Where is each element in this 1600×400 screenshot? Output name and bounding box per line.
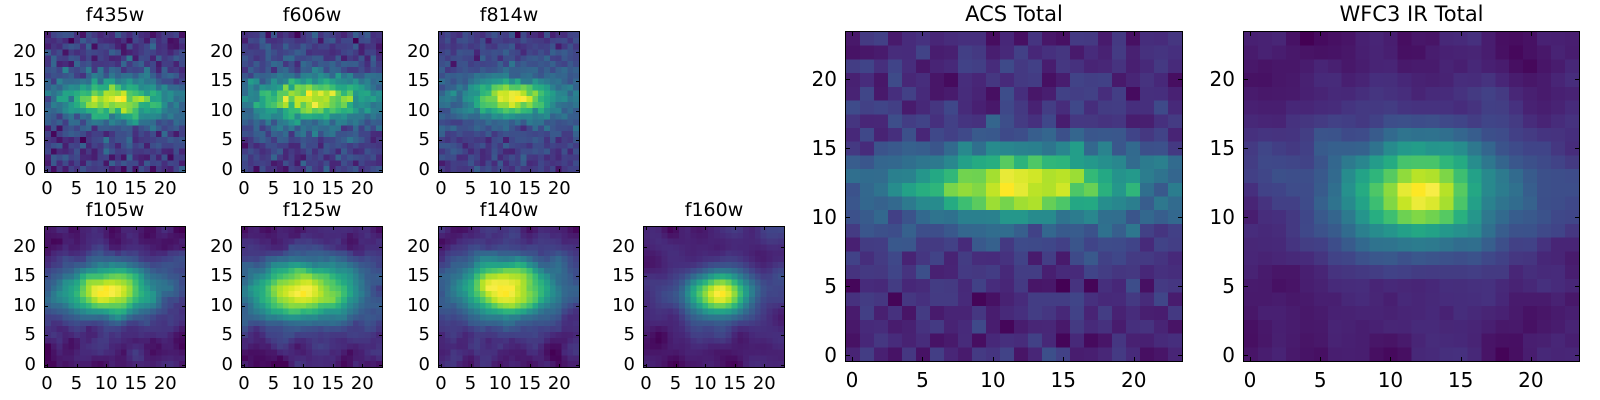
x-tick: [1320, 31, 1321, 36]
y-tick-label: 15: [1169, 138, 1235, 158]
y-tick: [44, 276, 48, 277]
panel-title-f814w: f814w: [438, 6, 580, 25]
y-tick-label: 20: [372, 43, 430, 61]
x-tick-label: 20: [529, 180, 589, 198]
x-tick: [705, 226, 706, 230]
x-tick: [530, 169, 531, 173]
x-tick: [705, 364, 706, 368]
x-tick: [244, 31, 245, 35]
x-tick: [500, 169, 501, 173]
y-tick: [241, 335, 245, 336]
y-tick-label: 10: [372, 102, 430, 120]
x-tick-label: 15: [1033, 370, 1093, 390]
y-tick-label: 0: [175, 356, 233, 374]
y-tick: [845, 286, 850, 287]
x-tick-label: 20: [332, 180, 392, 198]
x-tick: [676, 364, 677, 368]
x-tick: [922, 357, 923, 362]
x-tick-label: 20: [135, 180, 195, 198]
y-tick: [438, 81, 442, 82]
heatmap-image-f606w: [241, 31, 383, 173]
x-tick: [764, 226, 765, 230]
y-tick-label: 15: [0, 72, 36, 90]
y-tick-label: 0: [372, 356, 430, 374]
y-tick-label: 20: [0, 238, 36, 256]
y-tick-label: 20: [372, 238, 430, 256]
x-tick: [244, 226, 245, 230]
x-tick-label: 0: [822, 370, 882, 390]
y-tick-label: 5: [771, 276, 837, 296]
y-tick-label: 0: [175, 161, 233, 179]
y-tick: [781, 306, 785, 307]
y-tick: [845, 355, 850, 356]
y-tick: [438, 52, 442, 53]
heatmap-image-wfc3-ir-total: [1243, 31, 1580, 362]
y-tick-label: 0: [0, 356, 36, 374]
y-tick: [241, 81, 245, 82]
x-tick: [922, 31, 923, 36]
y-tick: [44, 335, 48, 336]
y-tick: [845, 79, 850, 80]
x-tick-label: 20: [1501, 370, 1561, 390]
y-tick-label: 10: [0, 102, 36, 120]
panel-f435w: f435w0510152005101520: [44, 31, 186, 173]
y-tick: [576, 52, 580, 53]
y-tick: [576, 81, 580, 82]
y-tick-label: 15: [175, 267, 233, 285]
x-tick: [274, 169, 275, 173]
x-tick: [77, 169, 78, 173]
y-tick-label: 5: [577, 326, 635, 344]
x-tick: [559, 169, 560, 173]
y-tick: [241, 170, 245, 171]
y-tick: [1575, 148, 1580, 149]
x-tick: [77, 226, 78, 230]
y-tick: [438, 365, 442, 366]
y-tick-label: 5: [1169, 276, 1235, 296]
x-tick: [471, 31, 472, 35]
x-tick: [362, 31, 363, 35]
y-tick-label: 0: [372, 161, 430, 179]
y-tick-label: 15: [0, 267, 36, 285]
x-tick: [165, 364, 166, 368]
y-tick-label: 15: [771, 138, 837, 158]
y-tick-label: 10: [175, 102, 233, 120]
x-tick: [136, 169, 137, 173]
x-tick: [303, 364, 304, 368]
x-tick: [333, 31, 334, 35]
y-tick: [44, 306, 48, 307]
y-tick: [44, 170, 48, 171]
panel-title-f606w: f606w: [241, 6, 383, 25]
panel-f140w: f140w0510152005101520: [438, 226, 580, 368]
heatmap-image-f125w: [241, 226, 383, 368]
x-tick: [165, 226, 166, 230]
y-tick-label: 5: [0, 326, 36, 344]
y-tick-label: 15: [372, 72, 430, 90]
y-tick: [845, 217, 850, 218]
panel-f814w: f814w0510152005101520: [438, 31, 580, 173]
y-tick: [438, 306, 442, 307]
x-tick-label: 5: [892, 370, 952, 390]
x-tick: [77, 364, 78, 368]
x-tick: [1531, 357, 1532, 362]
x-tick: [1250, 357, 1251, 362]
y-tick: [1575, 355, 1580, 356]
y-tick: [1575, 217, 1580, 218]
y-tick: [241, 111, 245, 112]
x-tick: [646, 226, 647, 230]
panel-f606w: f606w0510152005101520: [241, 31, 383, 173]
heatmap-image-f814w: [438, 31, 580, 173]
panel-acs-total: ACS Total0510152005101520: [845, 31, 1183, 362]
x-tick: [47, 226, 48, 230]
x-tick: [1320, 357, 1321, 362]
y-tick: [241, 306, 245, 307]
y-tick-label: 10: [577, 297, 635, 315]
x-tick: [500, 364, 501, 368]
panel-title-f435w: f435w: [44, 6, 186, 25]
heatmap-image-f140w: [438, 226, 580, 368]
x-tick: [136, 31, 137, 35]
y-tick: [1243, 79, 1248, 80]
panel-title-f105w: f105w: [44, 201, 186, 220]
y-tick: [241, 247, 245, 248]
y-tick-label: 5: [175, 131, 233, 149]
y-tick: [643, 247, 647, 248]
x-tick-label: 10: [963, 370, 1023, 390]
x-tick: [1063, 357, 1064, 362]
y-tick: [643, 306, 647, 307]
x-tick-label: 20: [734, 375, 794, 393]
x-tick: [333, 364, 334, 368]
x-tick: [333, 226, 334, 230]
y-tick: [438, 111, 442, 112]
y-tick: [241, 140, 245, 141]
x-tick: [1461, 31, 1462, 36]
y-tick-label: 0: [771, 345, 837, 365]
x-tick: [1063, 31, 1064, 36]
y-tick-label: 20: [175, 43, 233, 61]
x-tick: [136, 364, 137, 368]
y-tick: [781, 335, 785, 336]
x-tick: [303, 226, 304, 230]
x-tick-label: 0: [1220, 370, 1280, 390]
y-tick: [845, 148, 850, 149]
x-tick: [106, 31, 107, 35]
y-tick-label: 10: [372, 297, 430, 315]
x-tick: [530, 364, 531, 368]
x-tick: [362, 169, 363, 173]
x-tick: [559, 364, 560, 368]
y-tick: [44, 81, 48, 82]
y-tick-label: 10: [0, 297, 36, 315]
x-tick: [530, 226, 531, 230]
x-tick: [1390, 31, 1391, 36]
y-tick: [1243, 286, 1248, 287]
y-tick-label: 20: [771, 69, 837, 89]
y-tick-label: 5: [372, 131, 430, 149]
x-tick: [471, 364, 472, 368]
panel-title-f140w: f140w: [438, 201, 580, 220]
x-tick: [500, 226, 501, 230]
heatmap-image-f435w: [44, 31, 186, 173]
x-tick: [362, 226, 363, 230]
x-tick-label: 20: [135, 375, 195, 393]
x-tick: [1390, 357, 1391, 362]
y-tick-label: 0: [1169, 345, 1235, 365]
x-tick: [500, 31, 501, 35]
panel-f105w: f105w0510152005101520: [44, 226, 186, 368]
x-tick: [303, 169, 304, 173]
x-tick-label: 20: [529, 375, 589, 393]
y-tick: [781, 247, 785, 248]
x-tick: [852, 31, 853, 36]
x-tick: [1250, 31, 1251, 36]
y-tick-label: 20: [175, 238, 233, 256]
panel-title-f125w: f125w: [241, 201, 383, 220]
y-tick: [1575, 79, 1580, 80]
y-tick: [438, 335, 442, 336]
y-tick: [241, 276, 245, 277]
heatmap-image-acs-total: [845, 31, 1183, 362]
y-tick: [1243, 355, 1248, 356]
x-tick: [676, 226, 677, 230]
y-tick-label: 20: [577, 238, 635, 256]
figure-canvas: f435w0510152005101520f606w05101520051015…: [0, 0, 1600, 400]
x-tick: [362, 364, 363, 368]
y-tick: [1243, 217, 1248, 218]
x-tick: [106, 364, 107, 368]
y-tick-label: 10: [771, 207, 837, 227]
x-tick: [559, 226, 560, 230]
x-tick: [559, 31, 560, 35]
y-tick-label: 15: [577, 267, 635, 285]
y-tick: [241, 52, 245, 53]
y-tick-label: 20: [1169, 69, 1235, 89]
panel-title-f160w: f160w: [643, 201, 785, 220]
panel-title-wfc3-ir-total: WFC3 IR Total: [1243, 4, 1580, 25]
x-tick: [274, 364, 275, 368]
x-tick: [77, 31, 78, 35]
y-tick: [643, 335, 647, 336]
y-tick: [438, 140, 442, 141]
x-tick: [303, 31, 304, 35]
y-tick: [1243, 148, 1248, 149]
y-tick-label: 20: [0, 43, 36, 61]
y-tick-label: 5: [0, 131, 36, 149]
x-tick-label: 5: [1290, 370, 1350, 390]
y-tick: [1575, 286, 1580, 287]
panel-f160w: f160w0510152005101520: [643, 226, 785, 368]
x-tick-label: 20: [1104, 370, 1164, 390]
x-tick: [471, 169, 472, 173]
y-tick-label: 10: [1169, 207, 1235, 227]
y-tick: [44, 140, 48, 141]
y-tick: [643, 276, 647, 277]
heatmap-image-f160w: [643, 226, 785, 368]
x-tick: [1134, 357, 1135, 362]
x-tick: [735, 226, 736, 230]
x-tick: [993, 31, 994, 36]
x-tick: [333, 169, 334, 173]
x-tick: [47, 31, 48, 35]
x-tick: [165, 169, 166, 173]
x-tick-label: 10: [1360, 370, 1420, 390]
y-tick-label: 10: [175, 297, 233, 315]
x-tick-label: 20: [332, 375, 392, 393]
x-tick: [1461, 357, 1462, 362]
y-tick-label: 15: [372, 267, 430, 285]
y-tick-label: 15: [175, 72, 233, 90]
y-tick: [438, 247, 442, 248]
x-tick: [1531, 31, 1532, 36]
x-tick: [165, 31, 166, 35]
x-tick: [993, 357, 994, 362]
y-tick-label: 0: [577, 356, 635, 374]
panel-title-acs-total: ACS Total: [845, 4, 1183, 25]
y-tick: [643, 365, 647, 366]
x-tick: [471, 226, 472, 230]
panel-f125w: f125w0510152005101520: [241, 226, 383, 368]
y-tick: [438, 170, 442, 171]
x-tick: [1134, 31, 1135, 36]
x-tick: [735, 364, 736, 368]
y-tick: [576, 140, 580, 141]
x-tick: [106, 169, 107, 173]
x-tick: [764, 364, 765, 368]
y-tick: [44, 111, 48, 112]
x-tick: [274, 31, 275, 35]
x-tick: [274, 226, 275, 230]
x-tick: [530, 31, 531, 35]
x-tick: [441, 31, 442, 35]
y-tick: [44, 365, 48, 366]
y-tick-label: 5: [372, 326, 430, 344]
y-tick: [241, 365, 245, 366]
x-tick: [106, 226, 107, 230]
x-tick-label: 15: [1431, 370, 1491, 390]
x-tick: [441, 226, 442, 230]
y-tick: [438, 276, 442, 277]
y-tick: [576, 170, 580, 171]
y-tick-label: 0: [0, 161, 36, 179]
y-tick: [576, 111, 580, 112]
y-tick: [781, 365, 785, 366]
y-tick: [44, 247, 48, 248]
x-tick: [852, 357, 853, 362]
y-tick: [44, 52, 48, 53]
x-tick: [136, 226, 137, 230]
y-tick-label: 5: [175, 326, 233, 344]
panel-wfc3-ir-total: WFC3 IR Total0510152005101520: [1243, 31, 1580, 362]
heatmap-image-f105w: [44, 226, 186, 368]
